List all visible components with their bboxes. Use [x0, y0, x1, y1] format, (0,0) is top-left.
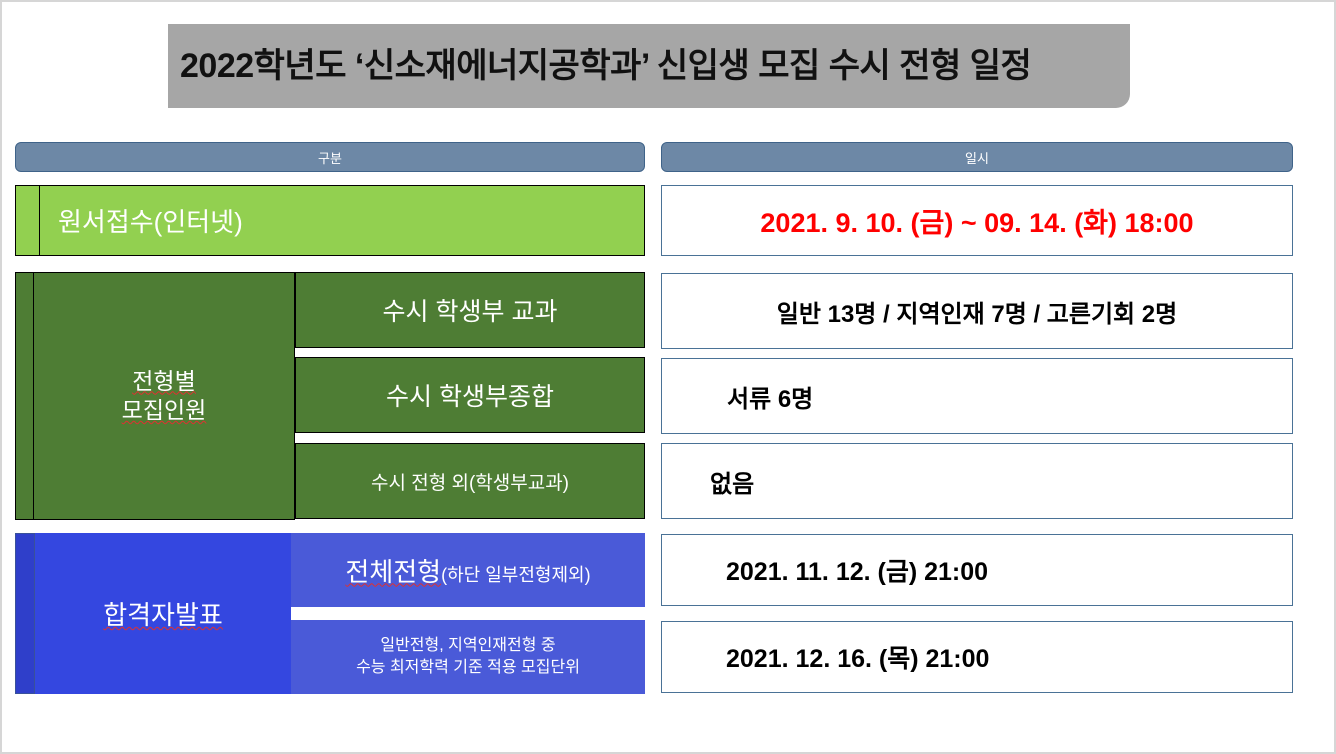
announcement-subrow-csat-value: 2021. 12. 16. (목) 21:00	[661, 621, 1293, 693]
application-row-label: 원서접수(인터넷)	[40, 185, 645, 256]
application-row-label-text: 원서접수(인터넷)	[58, 202, 243, 239]
quota-row-stripe	[15, 272, 34, 520]
quota-subrow-comprehensive-label: 수시 학생부종합	[295, 357, 645, 433]
title-banner: 2022학년도 ‘신소재에너지공학과’ 신입생 모집 수시 전형 일정	[168, 24, 1130, 108]
column-header-category-label: 구분	[318, 148, 342, 167]
quota-subrow-comprehensive-value: 서류 6명	[661, 358, 1293, 434]
announcement-csat-line2: 수능 최저학력 기준 적용 모집단위	[356, 657, 580, 679]
quota-subrow-nonsusi-label: 수시 전형 외(학생부교과)	[295, 443, 645, 519]
application-row-value: 2021. 9. 10. (금) ~ 09. 14. (화) 18:00	[661, 185, 1293, 256]
announcement-all-main: 전체전형	[345, 557, 441, 587]
application-row-stripe	[15, 185, 40, 256]
quota-subrow-comprehensive-label-text: 수시 학생부종합	[386, 377, 554, 413]
announcement-subrow-all-label: 전체전형(하단 일부전형제외)	[291, 533, 645, 607]
column-header-datetime: 일시	[661, 142, 1293, 172]
column-header-category: 구분	[15, 142, 645, 172]
quota-subrow-subject-value: 일반 13명 / 지역인재 7명 / 고른기회 2명	[661, 273, 1293, 349]
column-header-datetime-label: 일시	[965, 148, 989, 167]
announcement-all-note: (하단 일부전형제외)	[441, 565, 590, 585]
announcement-row-label: 합격자발표	[35, 533, 291, 694]
quota-row-label: 전형별 모집인원	[34, 272, 295, 520]
quota-comprehensive-count-text: 서류 6명	[727, 379, 813, 414]
announcement-csat-date-text: 2021. 12. 16. (목) 21:00	[726, 639, 989, 675]
announcement-subrow-all-label-text: 전체전형(하단 일부전형제외)	[345, 552, 590, 589]
slide-canvas: 2022학년도 ‘신소재에너지공학과’ 신입생 모집 수시 전형 일정 구분 일…	[0, 0, 1336, 754]
quota-nonsusi-count-text: 없음	[710, 464, 754, 499]
announcement-subrow-csat-label: 일반전형, 지역인재전형 중 수능 최저학력 기준 적용 모집단위	[291, 620, 645, 694]
quota-subject-count-text: 일반 13명 / 지역인재 7명 / 고른기회 2명	[777, 294, 1177, 329]
announcement-all-date-text: 2021. 11. 12. (금) 21:00	[726, 552, 988, 588]
quota-subrow-nonsusi-value: 없음	[661, 443, 1293, 519]
page-title: 2022학년도 ‘신소재에너지공학과’ 신입생 모집 수시 전형 일정	[180, 38, 1120, 87]
application-period-text: 2021. 9. 10. (금) ~ 09. 14. (화) 18:00	[760, 201, 1193, 240]
quota-subrow-subject-label: 수시 학생부 교과	[295, 272, 645, 348]
quota-subrow-subject-label-text: 수시 학생부 교과	[383, 292, 558, 328]
quota-row-label-line2: 모집인원	[122, 396, 207, 425]
announcement-row-label-text: 합격자발표	[103, 595, 223, 632]
quota-subrow-nonsusi-label-text: 수시 전형 외(학생부교과)	[371, 468, 569, 495]
quota-row-label-line1: 전형별	[132, 367, 195, 396]
announcement-row-stripe	[15, 533, 35, 694]
announcement-csat-line1: 일반전형, 지역인재전형 중	[380, 635, 555, 657]
announcement-subrow-all-value: 2021. 11. 12. (금) 21:00	[661, 534, 1293, 606]
